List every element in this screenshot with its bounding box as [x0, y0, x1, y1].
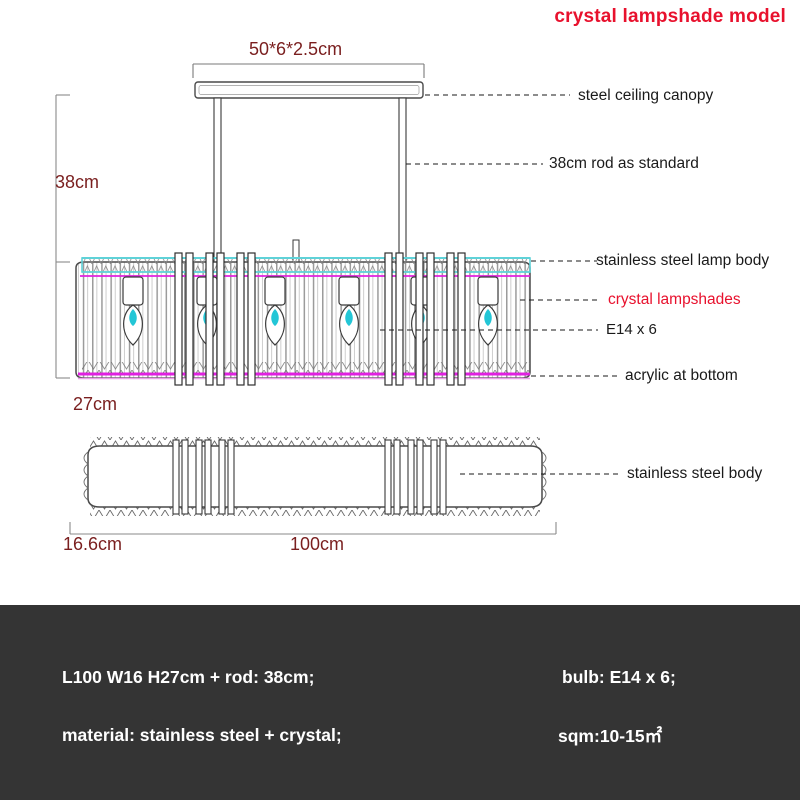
annotation-bulb-type: E14 x 6	[606, 322, 657, 337]
annotation-acrylic-at-bottom: acrylic at bottom	[625, 368, 738, 384]
spec-row-material: material: stainless steel + crystal; sqm…	[0, 723, 800, 748]
canopy-dimension-bracket	[193, 64, 424, 78]
spec-row-dimensions: L100 W16 H27cm + rod: 38cm; bulb: E14 x …	[0, 667, 800, 688]
spec-sqm-unit: ㎡	[645, 726, 663, 746]
annotation-stainless-steel-body: stainless steel body	[627, 466, 762, 482]
annotation-rod-standard: 38cm rod as standard	[549, 156, 699, 172]
annotation-steel-ceiling-canopy: steel ceiling canopy	[578, 88, 713, 104]
steel-ceiling-canopy	[195, 82, 423, 98]
spec-sqm-value: 10-15	[600, 726, 645, 746]
spec-sqm-prefix: sqm:	[558, 726, 600, 746]
height-dimension-bracket	[56, 95, 70, 378]
suspension-rods	[214, 98, 406, 262]
dimension-rod-height: 38cm	[55, 173, 99, 191]
spec-sqm: sqm:10-15㎡	[530, 723, 800, 748]
dimension-total-length: 100cm	[290, 535, 344, 553]
lamp-body-plan-view	[84, 437, 546, 516]
spec-bulb: bulb: E14 x 6;	[530, 667, 800, 688]
dimension-canopy: 50*6*2.5cm	[249, 40, 342, 58]
diagram-canvas: crystal lampshade model	[0, 0, 800, 800]
annotation-crystal-lampshades: crystal lampshades	[608, 292, 741, 308]
lamp-body-elevation	[76, 253, 530, 385]
dimension-body-height: 27cm	[73, 395, 117, 413]
dimension-end-width: 16.6cm	[63, 535, 122, 553]
spec-material: material: stainless steel + crystal;	[0, 725, 530, 746]
annotation-stainless-steel-lamp-body: stainless steel lamp body	[596, 253, 769, 269]
length-dimension-bracket	[70, 522, 556, 534]
specification-panel: L100 W16 H27cm + rod: 38cm; bulb: E14 x …	[0, 605, 800, 800]
spec-dimensions: L100 W16 H27cm + rod: 38cm;	[0, 667, 530, 688]
